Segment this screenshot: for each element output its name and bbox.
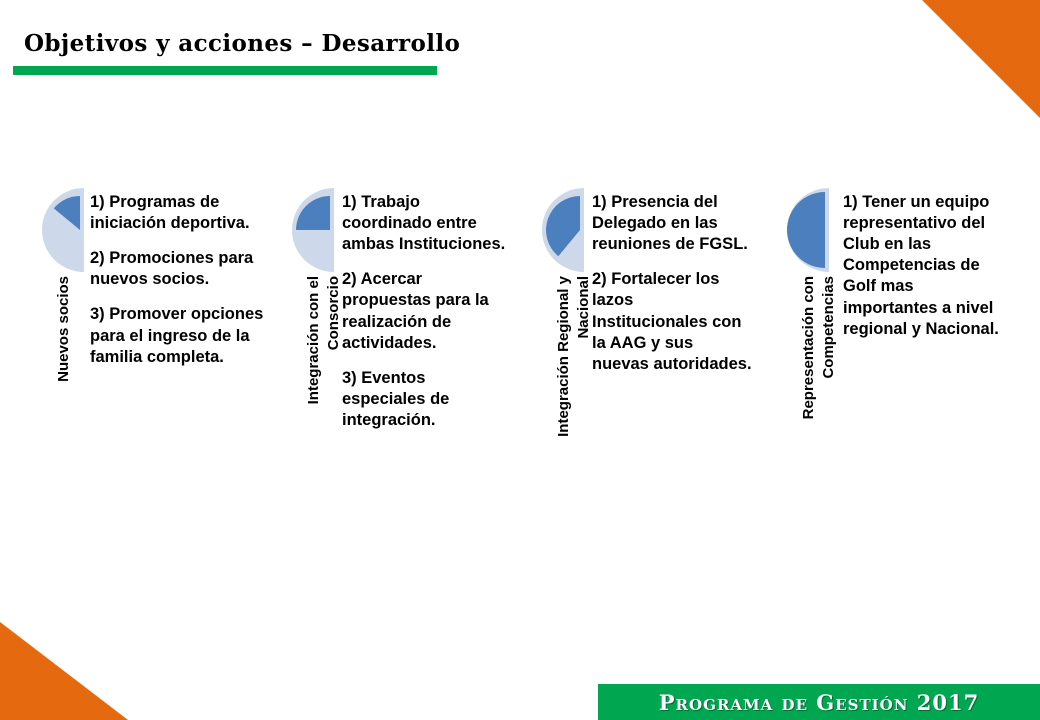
objective-item-list: 1) Trabajo coordinado entre ambas Instit… [342,192,510,445]
column-axis-label-line: Integración Regional y [556,276,572,437]
column-rail: Nuevos socios [36,186,94,486]
column-axis-label: Representación conCompetencias [781,276,839,486]
objective-item: 2) Promociones para nuevos socios. [90,248,266,290]
column-axis-label-line: Consorcio [326,276,342,350]
progress-pie [288,186,336,274]
objective-item-list: 1) Presencia del Delegado en las reunion… [592,192,752,389]
pie-half-upper-icon [288,186,336,274]
column-rail: Integración con elConsorcio [286,186,344,486]
column-axis-label-line: Integración con el [306,276,322,404]
column-axis-label-line: Representación con [801,276,817,419]
objective-item: 2) Acercar propuestas para la realizació… [342,269,510,353]
pie-quarter-icon [38,186,86,274]
column-axis-label: Integración con elConsorcio [286,276,344,486]
column-axis-label: Integración Regional yNacional [536,276,594,486]
title-underline-rule [13,66,437,75]
column-rail: Representación conCompetencias [781,186,839,486]
slide-canvas: Objetivos y acciones – Desarrollo Nuevos… [0,0,1040,720]
objective-item-list: 1) Tener un equipo representativo del Cl… [843,192,1003,354]
objective-item-list: 1) Programas de iniciación deportiva.2) … [90,192,266,382]
pie-three-quarter-icon [538,186,586,274]
objective-item: 1) Tener un equipo representativo del Cl… [843,192,1003,340]
objective-item: 1) Programas de iniciación deportiva. [90,192,266,234]
objective-item: 3) Eventos especiales de integración. [342,368,510,431]
slide-title: Objetivos y acciones – Desarrollo [24,30,460,57]
corner-decoration-top-right [922,0,1040,118]
column-axis-label: Nuevos socios [36,276,94,486]
objectives-columns: Nuevos socios1) Programas de iniciación … [0,186,1040,516]
objective-item: 2) Fortalecer los lazos Institucionales … [592,269,752,375]
objective-item: 3) Promover opciones para el ingreso de … [90,304,266,367]
objective-item: 1) Trabajo coordinado entre ambas Instit… [342,192,510,255]
objective-item: 1) Presencia del Delegado en las reunion… [592,192,752,255]
corner-decoration-bottom-left [0,622,128,720]
pie-full-icon [783,186,831,274]
progress-pie [38,186,86,274]
footer-banner-label: Programa de Gestión 2017 [659,690,979,715]
column-rail: Integración Regional yNacional [536,186,594,486]
column-axis-label-line: Nuevos socios [56,276,72,382]
footer-banner: Programa de Gestión 2017 [598,684,1040,720]
column-axis-label-line: Competencias [821,276,837,379]
progress-pie [783,186,831,274]
column-axis-label-line: Nacional [576,276,592,339]
progress-pie [538,186,586,274]
